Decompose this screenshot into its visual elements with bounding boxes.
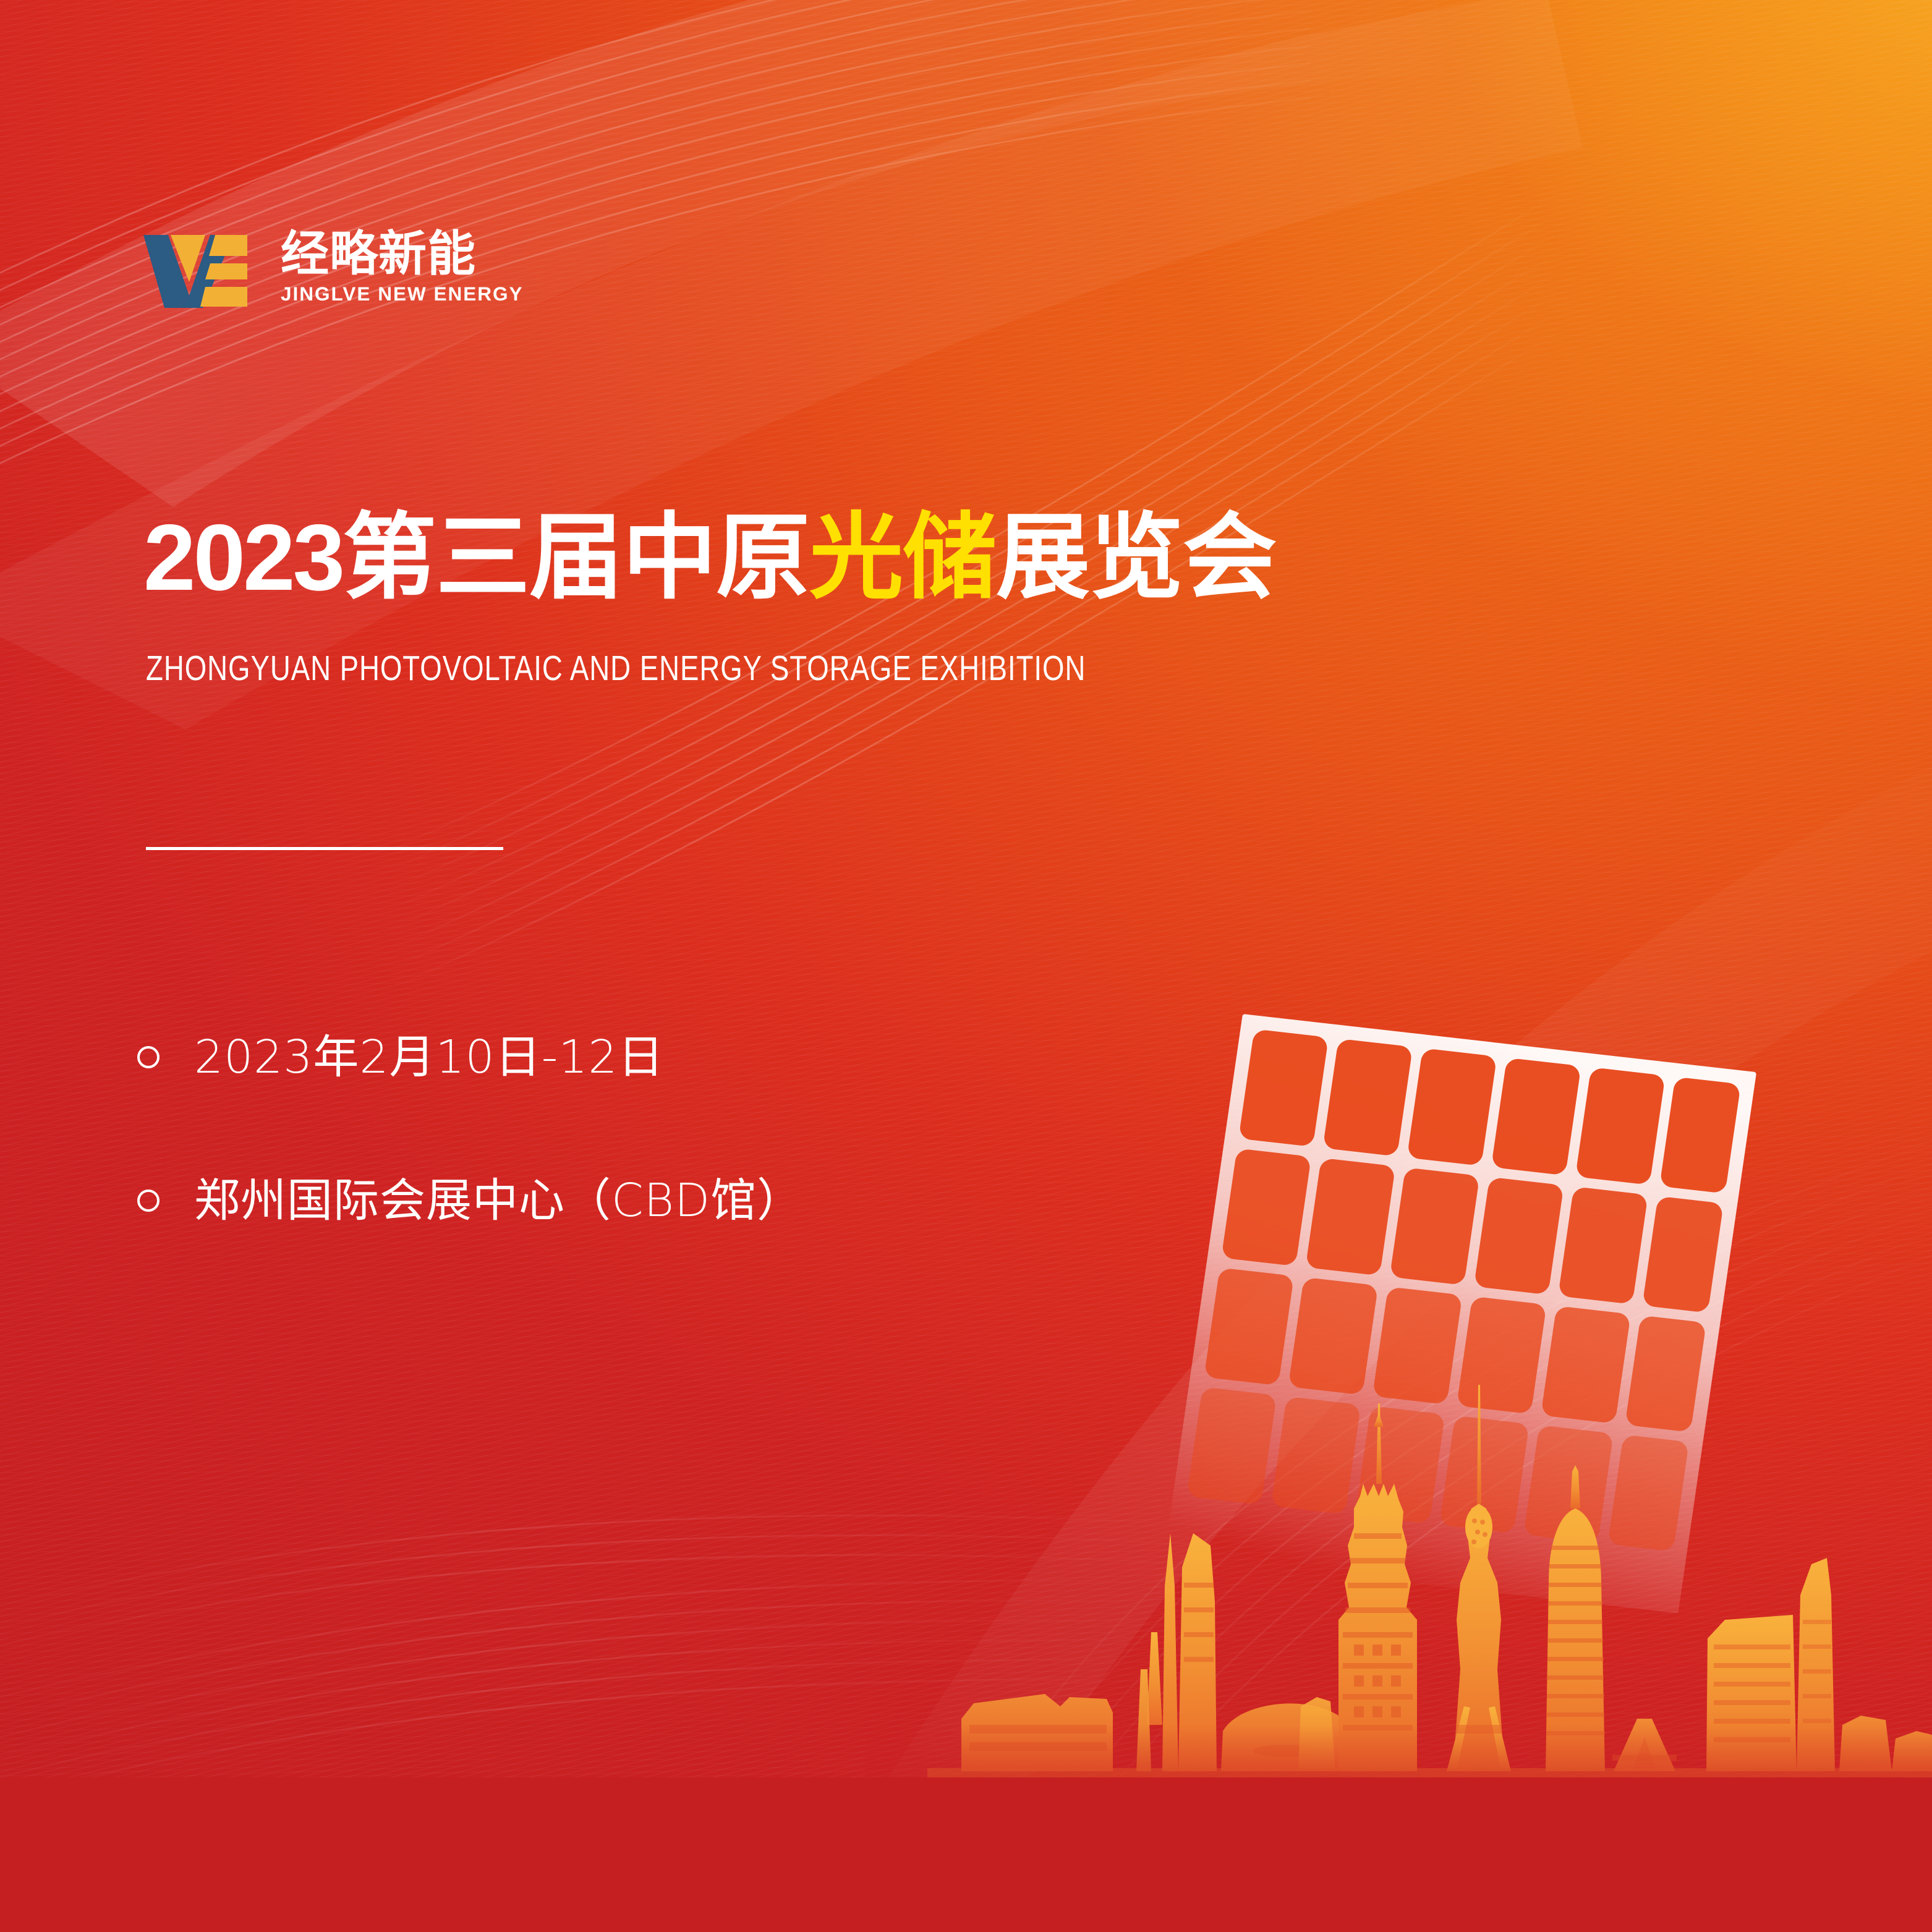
- event-info-list: 2023年2月10日-12日 郑州国际会展中心（CBD馆）: [137, 1023, 803, 1310]
- event-venue: 郑州国际会展中心（CBD馆）: [194, 1178, 803, 1223]
- section-divider: [146, 847, 503, 850]
- ve-monogram-logo: [141, 230, 260, 309]
- brand-logo[interactable]: 经略新能 JINGLVE NEW ENERGY: [141, 230, 523, 309]
- exhibition-poster: 经略新能 JINGLVE NEW ENERGY 2023第三届中原光储展览会 Z…: [0, 0, 1932, 1932]
- title-year: 2023: [143, 505, 343, 610]
- brand-name-cn: 经略新能: [281, 230, 523, 278]
- title-part1: 第三届中原: [343, 503, 809, 612]
- event-date: 2023年2月10日-12日: [194, 1034, 664, 1080]
- brand-name-en: JINGLVE NEW ENERGY: [281, 284, 523, 304]
- title-part2: 展览会: [996, 503, 1276, 612]
- page-subtitle: ZHONGYUAN PHOTOVOLTAIC AND ENERGY STORAG…: [146, 648, 1086, 689]
- circle-outline-icon: [137, 1046, 160, 1068]
- list-item: 2023年2月10日-12日: [137, 1023, 803, 1091]
- page-title: 2023第三届中原光储展览会: [143, 511, 1276, 605]
- title-highlight: 光储: [809, 503, 996, 612]
- circle-outline-icon: [137, 1189, 160, 1212]
- list-item: 郑州国际会展中心（CBD馆）: [137, 1167, 803, 1235]
